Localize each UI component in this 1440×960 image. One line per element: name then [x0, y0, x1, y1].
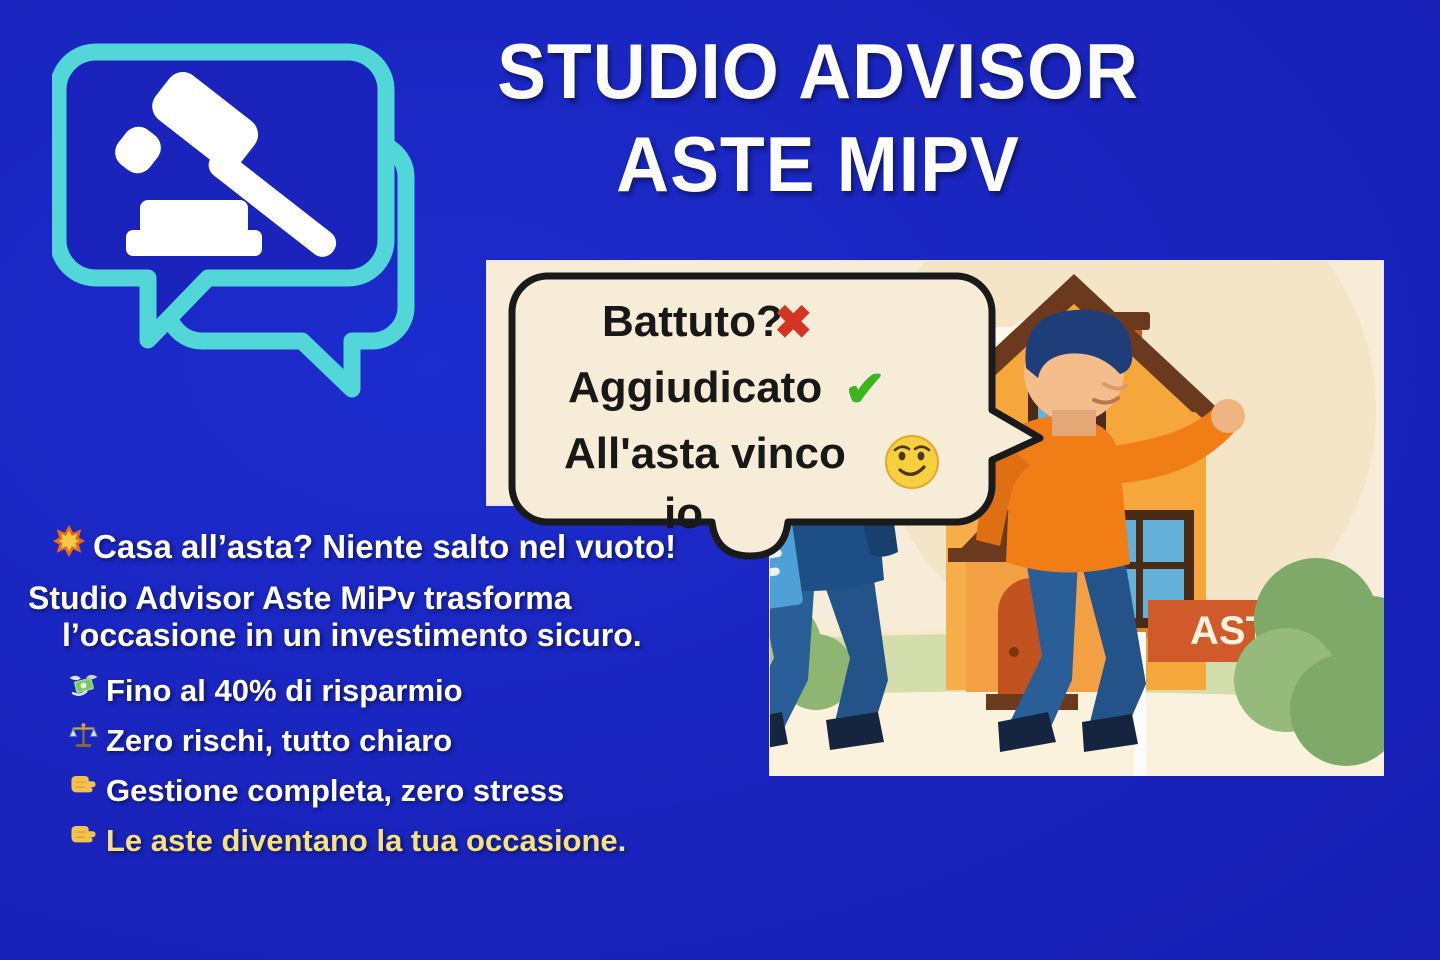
benefit-text-savings: Fino al 40% di risparmio — [106, 673, 463, 709]
benefit-text-full-service: Gestione completa, zero stress — [106, 773, 564, 809]
benefit-text-opportunity: Le aste diventano la tua occasione. — [106, 823, 626, 859]
bubble-line-3: All'asta vinco — [564, 429, 846, 478]
benefit-item-opportunity: Le aste diventano la tua occasione. — [26, 820, 726, 859]
benefit-text-no-risk: Zero rischi, tutto chiaro — [106, 723, 452, 759]
bubble-line-2: Aggiudicato — [568, 363, 822, 412]
bubble-line-1: Battuto? — [602, 297, 783, 346]
benefit-item-no-risk: Zero rischi, tutto chiaro — [26, 720, 726, 759]
money-with-wings-emoji — [68, 670, 99, 701]
benefit-item-savings: Fino al 40% di risparmio — [26, 670, 726, 709]
benefit-item-full-service: Gestione completa, zero stress — [26, 770, 726, 809]
collision-emoji — [52, 524, 86, 558]
gavel-speech-bubble-logo-icon — [52, 28, 452, 418]
poster-canvas: STUDIO ADVISOR ASTE MIPV — [0, 0, 1440, 960]
title-line-two: ASTE MIPV — [470, 127, 1166, 202]
subtitle-text-two: l’occasione in un investimento sicuro. — [62, 617, 642, 654]
subtitle-line-one: Studio Advisor Aste MiPv trasforma — [26, 580, 726, 617]
cross-mark-icon: ✖ — [774, 296, 813, 348]
marketing-copy: Casa all’asta? Niente salto nel vuoto! S… — [26, 524, 726, 870]
subtitle-text-one: Studio Advisor Aste MiPv trasforma — [28, 580, 572, 617]
logo-bubble-front — [58, 52, 386, 340]
check-mark-icon: ✔ — [844, 361, 886, 417]
smirking-face-emoji — [886, 436, 938, 488]
backhand-index-pointing-right-emoji — [68, 820, 99, 851]
page-title: STUDIO ADVISOR ASTE MIPV — [448, 34, 1188, 202]
balance-scale-emoji — [68, 720, 99, 751]
subtitle-line-two: l’occasione in un investimento sicuro. — [26, 617, 726, 654]
headline: Casa all’asta? Niente salto nel vuoto! — [26, 524, 726, 566]
title-line-one: STUDIO ADVISOR — [470, 34, 1166, 109]
client-hand — [1211, 399, 1245, 433]
headline-text: Casa all’asta? Niente salto nel vuoto! — [93, 528, 676, 566]
backhand-index-pointing-right-emoji — [68, 770, 99, 801]
